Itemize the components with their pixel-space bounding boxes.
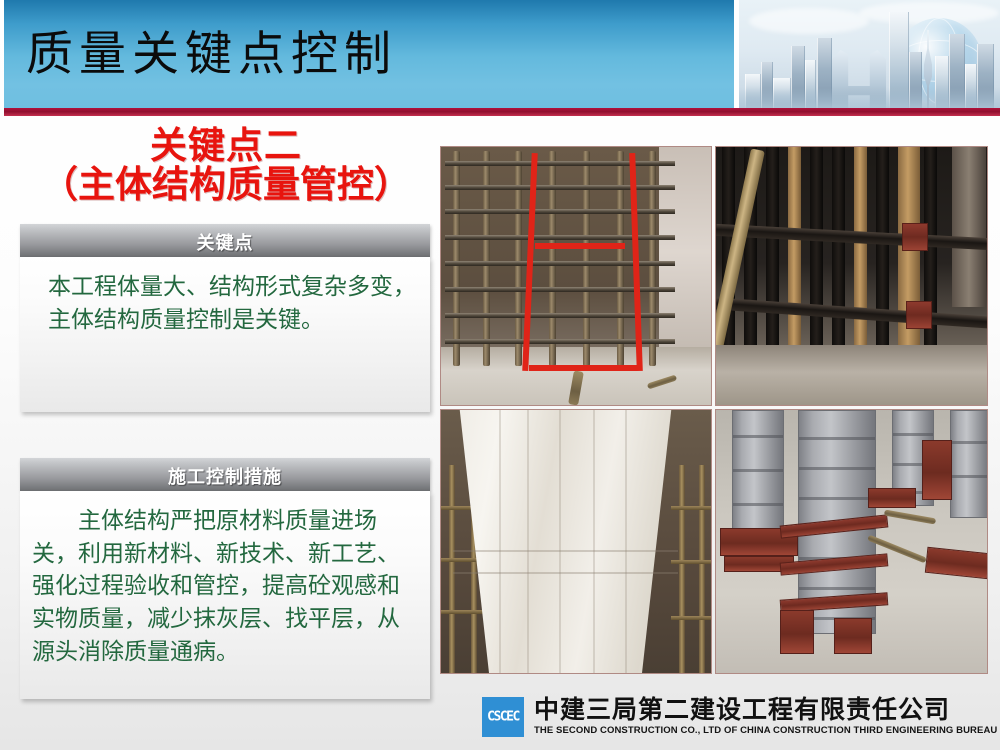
keypoint-panel-header: 关键点	[20, 224, 430, 257]
scaffold-standard	[679, 465, 685, 673]
main-title-line-1: 关键点二	[24, 126, 428, 165]
footer-text-block: 中建三局第二建设工程有限责任公司 THE SECOND CONSTRUCTION…	[534, 697, 997, 738]
clamp-stack	[922, 440, 952, 500]
formwork-joist	[810, 147, 823, 362]
measures-panel-heading: 施工控制措施	[20, 463, 430, 489]
clamp-stack	[780, 610, 814, 654]
formwork-rib	[799, 587, 875, 590]
formwork-rib	[799, 467, 875, 470]
formwork-seam-line	[453, 550, 678, 552]
rebar-vertical	[549, 151, 556, 366]
red-marked-bar	[535, 243, 625, 249]
cscec-logo-icon: CSCEC	[482, 697, 524, 737]
formwork-joist	[832, 147, 845, 362]
rebar-horizontal	[445, 185, 675, 190]
scaffold-standard	[699, 465, 705, 673]
scaffold-ledger	[441, 610, 487, 614]
waler-clamp	[906, 301, 932, 329]
form-mark-streak	[625, 410, 627, 673]
clamp-stack	[834, 618, 872, 654]
formwork-joist-timber	[788, 147, 801, 362]
rebar-vertical	[583, 151, 590, 366]
formwork-joist	[876, 147, 889, 362]
scaffold-ledger	[671, 560, 712, 564]
formwork-rib	[733, 503, 783, 506]
form-mark-streak	[527, 410, 529, 673]
scaffold-ledger	[671, 616, 712, 620]
rebar-horizontal	[445, 261, 675, 266]
main-title: 关键点二 （主体结构质量管控）	[24, 126, 428, 204]
formwork-seam-line	[453, 572, 678, 574]
keypoint-panel: 关键点 本工程体量大、结构形式复杂多变，主体结构质量控制是关键。	[20, 224, 430, 412]
rebar-vertical	[649, 151, 656, 366]
measures-panel-header: 施工控制措施	[20, 458, 430, 491]
rebar-vertical	[515, 151, 522, 366]
header-blue-panel: 质量关键点控制	[4, 0, 734, 108]
photo-2-deck	[716, 345, 987, 405]
formwork-joist-timber	[854, 147, 867, 362]
rebar-vertical	[617, 151, 624, 366]
rebar-horizontal	[445, 161, 675, 166]
rebar-horizontal	[445, 287, 675, 292]
scaffold-standard	[449, 465, 455, 673]
measures-panel-body: 主体结构严把原材料质量进场关，利用新材料、新技术、新工艺、强化过程验收和管控，提…	[20, 491, 430, 699]
slide-header: 质量关键点控制	[4, 0, 1000, 116]
ground-haze	[739, 88, 1000, 108]
formwork-panel	[952, 147, 986, 307]
main-title-line-2: （主体结构质量管控）	[24, 165, 428, 204]
company-name-chinese: 中建三局第二建设工程有限责任公司	[534, 697, 997, 723]
formwork-rib	[733, 469, 783, 472]
formwork-rib	[951, 475, 988, 478]
formwork-joist	[924, 147, 937, 362]
column-formwork-back	[732, 410, 784, 530]
waler-clamp	[902, 223, 928, 251]
red-marked-bar	[529, 365, 637, 371]
header-red-divider	[4, 108, 1000, 116]
formwork-rib	[733, 435, 783, 438]
rebar-cage-with-red-marking-photo[interactable]	[440, 146, 712, 406]
cscec-logo-mark: CSCEC	[482, 710, 524, 725]
beam-formwork-walers-photo[interactable]	[715, 146, 988, 406]
keypoint-panel-text: 本工程体量大、结构形式复杂多变，主体结构质量控制是关键。	[32, 271, 418, 336]
fair-faced-concrete-soffit-photo[interactable]	[440, 409, 712, 674]
footer-company-bar: CSCEC 中建三局第二建设工程有限责任公司 THE SECOND CONSTR…	[482, 694, 997, 740]
city-skyline-banner	[739, 0, 1000, 108]
cloud-shape	[749, 8, 869, 34]
company-name-english: THE SECOND CONSTRUCTION CO., LTD OF CHIN…	[534, 725, 997, 737]
column-steel-formwork-photo[interactable]	[715, 409, 988, 674]
form-mark-streak	[559, 410, 561, 673]
rebar-vertical	[483, 151, 490, 366]
keypoint-panel-body: 本工程体量大、结构形式复杂多变，主体结构质量控制是关键。	[20, 257, 430, 412]
measures-panel: 施工控制措施 主体结构严把原材料质量进场关，利用新材料、新技术、新工艺、强化过程…	[20, 458, 430, 699]
formwork-rib	[799, 497, 875, 500]
photo-grid	[440, 146, 988, 674]
rebar-horizontal	[445, 235, 675, 240]
measures-panel-text: 主体结构严把原材料质量进场关，利用新材料、新技术、新工艺、强化过程验收和管控，提…	[32, 505, 418, 668]
keypoint-panel-heading: 关键点	[20, 229, 430, 255]
formwork-joist	[766, 147, 779, 362]
slide-canvas: 质量关键点控制 关键点二 （主体结构质量管控）	[0, 0, 1000, 750]
formwork-rib	[951, 441, 988, 444]
formwork-rib	[799, 437, 875, 440]
rebar-vertical	[453, 151, 460, 366]
scaffold-ledger	[671, 506, 712, 510]
form-mark-streak	[593, 410, 595, 673]
formwork-rib	[893, 433, 933, 436]
column-formwork-far	[950, 410, 988, 518]
photo-1-wall	[659, 147, 711, 357]
rebar-horizontal	[445, 209, 675, 214]
form-mark-streak	[499, 410, 501, 673]
concrete-slab-soffit	[453, 410, 678, 673]
clamp-stack	[868, 488, 916, 508]
page-title: 质量关键点控制	[26, 32, 397, 79]
